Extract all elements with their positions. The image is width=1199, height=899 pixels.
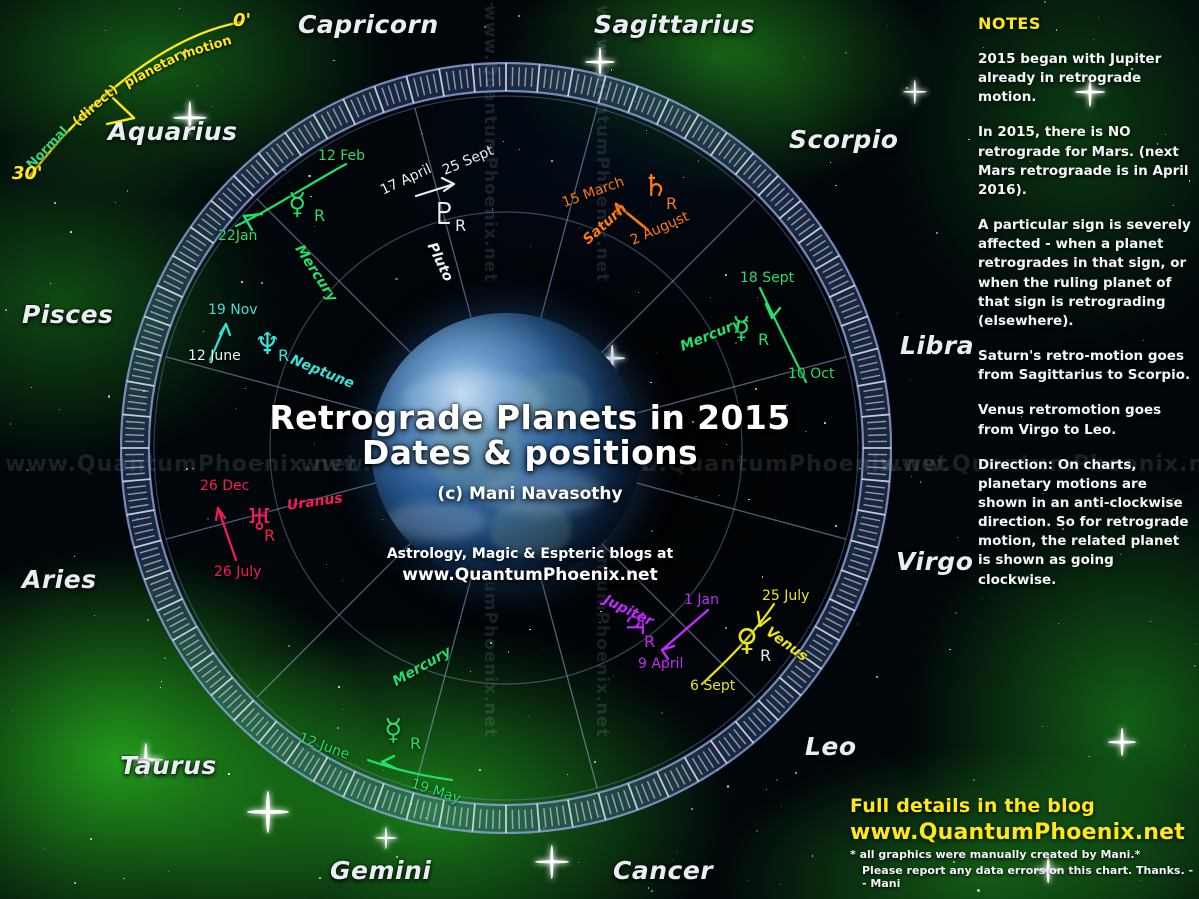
earth-globe: [371, 313, 641, 583]
legend-degree-zero: 0': [233, 10, 251, 31]
notes-paragraph: Saturn's retro-motion goes from Sagittar…: [978, 347, 1194, 385]
planet-annotation-mercury-gemini: 12 June 19 May ☿ R Mercury: [302, 708, 492, 808]
planet-annotation-neptune-pisces: 19 Nov 12 June ♆ R Neptune: [188, 302, 358, 402]
planet-annotation-mercury-aquarius: 12 Feb 22Jan ☿ R Mercury: [218, 148, 378, 268]
neptune-retro-mark: R: [278, 346, 289, 365]
sign-label-gemini: Gemini: [330, 856, 431, 885]
venus-end-date: 6 Sept: [690, 678, 735, 694]
venus-glyph: ♀: [736, 626, 758, 656]
neptune-start-date: 12 June: [188, 348, 241, 364]
notes-paragraph: 2015 began with Jupiter already in retro…: [978, 50, 1194, 107]
jupiter-end-date: 9 April: [638, 656, 683, 672]
mercury-aquarius-retro-mark: R: [314, 206, 325, 225]
notes-paragraph: In 2015, there is NO retrograde for Mars…: [978, 123, 1194, 200]
planet-annotation-venus-leo: 25 July 6 Sept ♀ R Venus: [690, 588, 860, 698]
mercury-glyph: ☿: [288, 190, 306, 220]
pluto-glyph: ♇: [431, 200, 458, 230]
sign-label-scorpio: Scorpio: [789, 125, 898, 154]
neptune-end-date: 19 Nov: [208, 302, 258, 318]
legend-degree-thirty: 30': [12, 163, 43, 184]
sign-label-virgo: Virgo: [896, 547, 973, 576]
planet-annotation-mercury-libra: 18 Sept 10 Oct ☿ R Mercury: [698, 270, 858, 400]
uranus-start-date: 26 July: [214, 564, 261, 580]
footer-url[interactable]: www.QuantumPhoenix.net: [850, 820, 1195, 845]
sign-label-leo: Leo: [805, 732, 857, 761]
mercury-libra-start-date: 18 Sept: [740, 270, 794, 286]
mercury-gemini-retro-mark: R: [410, 734, 421, 753]
uranus-retro-mark: R: [264, 526, 275, 545]
footer-disclaimer: * all graphics were manually created by …: [850, 848, 1195, 861]
venus-retro-mark: R: [760, 646, 771, 665]
notes-paragraph: Venus retromotion goes from Virgo to Leo…: [978, 401, 1194, 439]
saturn-retro-mark: R: [666, 194, 677, 213]
mercury-aquarius-end-date: 12 Feb: [318, 148, 365, 164]
footer-block: Full details in the blog www.QuantumPhoe…: [850, 795, 1195, 890]
footer-report-note: Please report any data errors on this ch…: [850, 864, 1195, 890]
sign-label-capricorn: Capricorn: [298, 10, 439, 39]
planet-annotation-pluto-capricorn: 25 Sept 17 April ♇ R Pluto: [378, 160, 538, 280]
mercury-libra-end-date: 10 Oct: [788, 366, 834, 382]
sign-label-sagittarius: Sagittarius: [594, 10, 755, 39]
venus-start-date: 25 July: [762, 588, 809, 604]
planet-annotation-uranus-aries: 26 Dec 26 July ♅ R Uranus: [190, 478, 360, 588]
jupiter-retro-mark: R: [644, 632, 655, 651]
sign-label-libra: Libra: [900, 331, 974, 360]
notes-heading: NOTES: [978, 14, 1194, 33]
sign-label-cancer: Cancer: [613, 856, 713, 885]
notes-panel: NOTES 2015 began with Jupiter already in…: [978, 14, 1194, 606]
pluto-retro-mark: R: [455, 216, 466, 235]
saturn-glyph: ♄: [642, 172, 669, 202]
uranus-end-date: 26 Dec: [200, 478, 249, 494]
infographic-canvas: www.QuantumPhoenix.netwww.QuantumPhoenix…: [0, 0, 1199, 899]
footer-cta: Full details in the blog: [850, 795, 1195, 817]
sign-label-aries: Aries: [22, 565, 97, 594]
notes-paragraph: A particular sign is severely affected -…: [978, 216, 1194, 331]
notes-paragraph: Direction: On charts, planetary motions …: [978, 456, 1194, 590]
sign-label-pisces: Pisces: [22, 300, 113, 329]
sign-label-taurus: Taurus: [120, 751, 217, 780]
mercury-libra-retro-mark: R: [758, 330, 769, 349]
mercury-gemini-glyph: ☿: [384, 716, 402, 746]
mercury-aquarius-start-date: 22Jan: [218, 228, 257, 244]
neptune-glyph: ♆: [254, 330, 281, 360]
